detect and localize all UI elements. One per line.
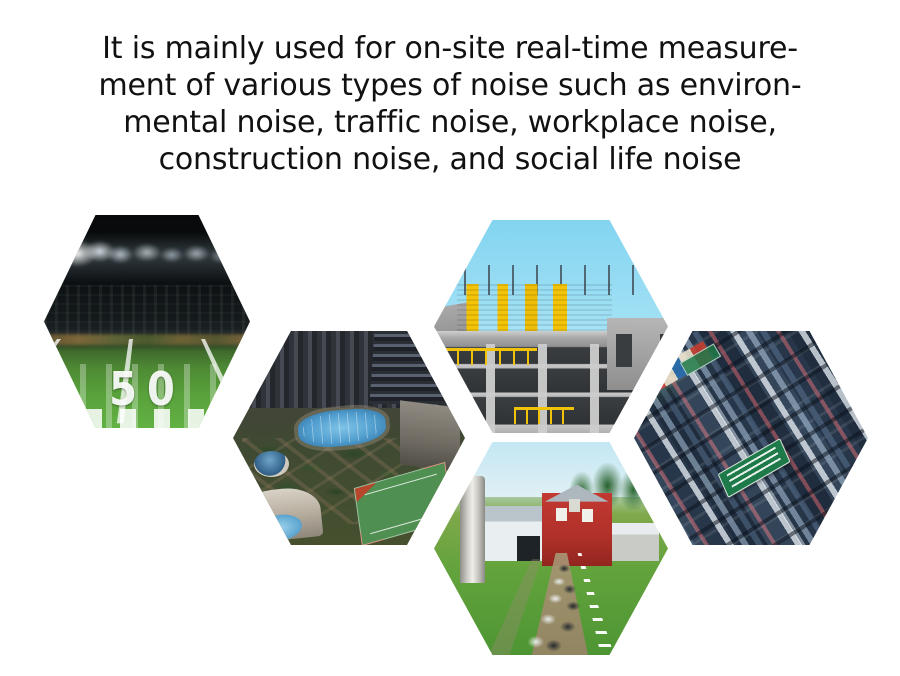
farm-red-barn <box>542 493 612 565</box>
hex-tile-traffic <box>634 331 868 545</box>
residential-tower-right <box>370 331 454 404</box>
stadium-stands <box>44 285 250 340</box>
construction-safety-railing <box>443 348 537 365</box>
formwork-shading <box>457 284 611 335</box>
stadium-floodlights <box>44 232 250 283</box>
highway-vehicle-shadows <box>634 331 868 545</box>
stadium-scene: 50 <box>44 215 250 428</box>
construction-yellow-formwork <box>457 284 611 335</box>
field-sideline-marks <box>44 409 250 428</box>
farm-silo <box>460 476 486 583</box>
hex-tile-stadium: 50 <box>44 215 250 428</box>
hex-tile-farm <box>434 442 668 655</box>
farm-dairy-cows <box>518 561 607 655</box>
hexagon-collage: 50 <box>0 0 900 676</box>
construction-safety-railing-lower <box>514 407 575 424</box>
hex-tile-residential <box>233 331 465 545</box>
traffic-scene <box>634 331 868 545</box>
residential-rotunda <box>254 451 289 477</box>
farm-barn-windows <box>556 508 568 521</box>
farm-shed <box>612 523 659 561</box>
farm-scene <box>434 442 668 655</box>
page-root: It is mainly used for on-site real-time … <box>0 0 900 676</box>
residential-clubhouse <box>400 400 460 472</box>
construction-right-wall <box>607 318 668 390</box>
construction-scene <box>434 220 668 433</box>
hex-tile-construction <box>434 220 668 433</box>
residential-scene <box>233 331 465 545</box>
